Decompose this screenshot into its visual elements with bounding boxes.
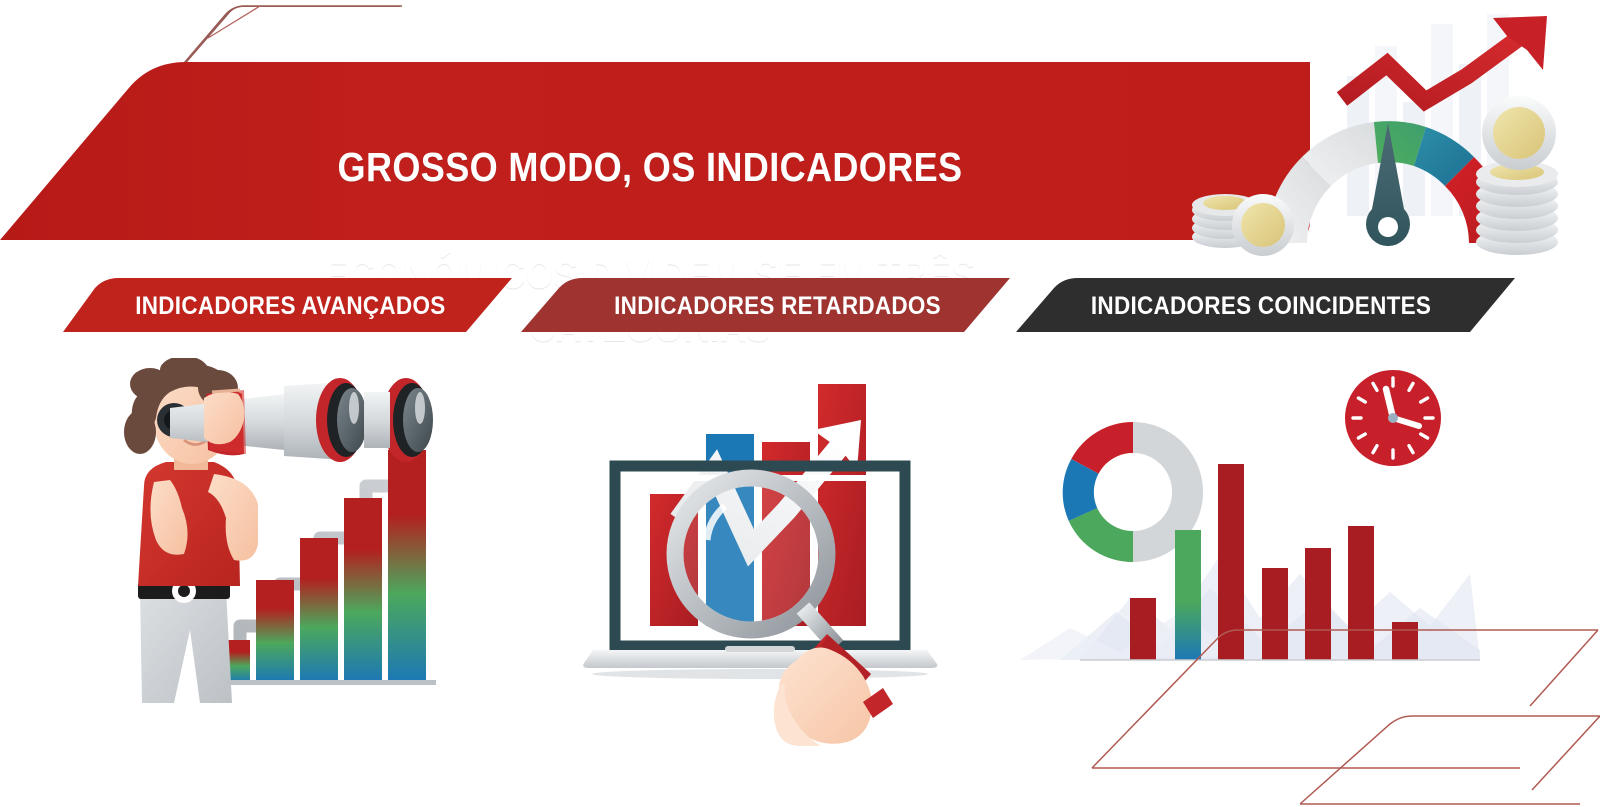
decoration-parallelogram-bottomright xyxy=(1060,620,1600,807)
tab-label-avancados[interactable]: INDICADORES AVANÇADOS xyxy=(135,292,445,321)
advanced-indicators-illustration xyxy=(108,358,498,703)
lagging-indicators-illustration xyxy=(575,358,945,748)
gauge-illustration xyxy=(1175,6,1600,274)
page-title-line-1: GROSSO MODO, OS INDICADORES xyxy=(210,141,1090,194)
infographic-canvas: GROSSO MODO, OS INDICADORES ECONÓMICOS D… xyxy=(0,0,1600,807)
coin-stack-left xyxy=(1192,194,1294,256)
coin-stack-right xyxy=(1476,96,1558,255)
tab-label-coincidentes[interactable]: INDICADORES COINCIDENTES xyxy=(1091,292,1431,321)
tab-label-retardados[interactable]: INDICADORES RETARDADOS xyxy=(614,292,941,321)
clock-icon xyxy=(1345,370,1441,466)
